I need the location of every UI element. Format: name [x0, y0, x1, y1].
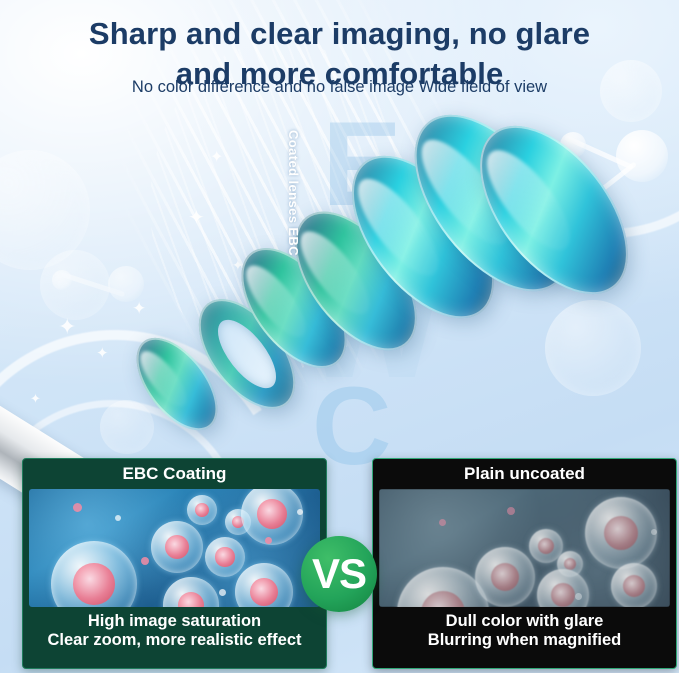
bubble-decoration [545, 300, 641, 396]
comparison-panel-coated: EBC Coating High image saturation Clear … [22, 458, 327, 669]
speck [141, 557, 149, 565]
sparkle-icon: ✦ [132, 300, 146, 317]
product-feature-image: E W C ✦ ✦ ✦ ✦ ✦ ✦ ✦ Sharp and clear imag… [0, 0, 679, 673]
panel-caption-uncoated: Dull color with glare Blurring when magn… [373, 607, 676, 650]
cell [151, 521, 203, 573]
cell [475, 547, 535, 607]
speck [575, 593, 582, 600]
sparkle-icon: ✦ [30, 392, 41, 405]
cell [611, 563, 657, 607]
sample-image-uncoated [379, 489, 670, 607]
headline-line-1: Sharp and clear imaging, no glare [0, 14, 679, 54]
page-title: Sharp and clear imaging, no glare and mo… [0, 14, 679, 95]
speck [265, 537, 272, 544]
caption-line-1: High image saturation [23, 612, 326, 631]
speck [507, 507, 515, 515]
speck [651, 529, 657, 535]
headline-line-2: and more comfortable [0, 54, 679, 94]
panel-title-coated: EBC Coating [23, 459, 326, 489]
sparkle-icon: ✦ [188, 208, 205, 228]
speck [219, 589, 226, 596]
caption-line-1: Dull color with glare [373, 612, 676, 631]
caption-line-2: Clear zoom, more realistic effect [23, 631, 326, 650]
panel-caption-coated: High image saturation Clear zoom, more r… [23, 607, 326, 650]
speck [115, 515, 121, 521]
speck [73, 503, 82, 512]
sample-image-coated [29, 489, 320, 607]
speck [297, 509, 303, 515]
cell [205, 537, 245, 577]
bubble-decoration [100, 400, 154, 454]
caption-line-2: Blurring when magnified [373, 631, 676, 650]
speck [439, 519, 446, 526]
cell [585, 497, 657, 569]
cell [187, 495, 217, 525]
panel-title-uncoated: Plain uncoated [373, 459, 676, 489]
sparkle-icon: ✦ [96, 346, 109, 361]
coated-lenses-label: Coated lenses EBC [286, 130, 301, 256]
sparkle-icon: ✦ [210, 150, 223, 166]
vs-badge: VS [301, 536, 377, 612]
sparkle-icon: ✦ [58, 316, 76, 338]
comparison-panel-uncoated: Plain uncoated Dull color with glare Blu… [372, 458, 677, 669]
